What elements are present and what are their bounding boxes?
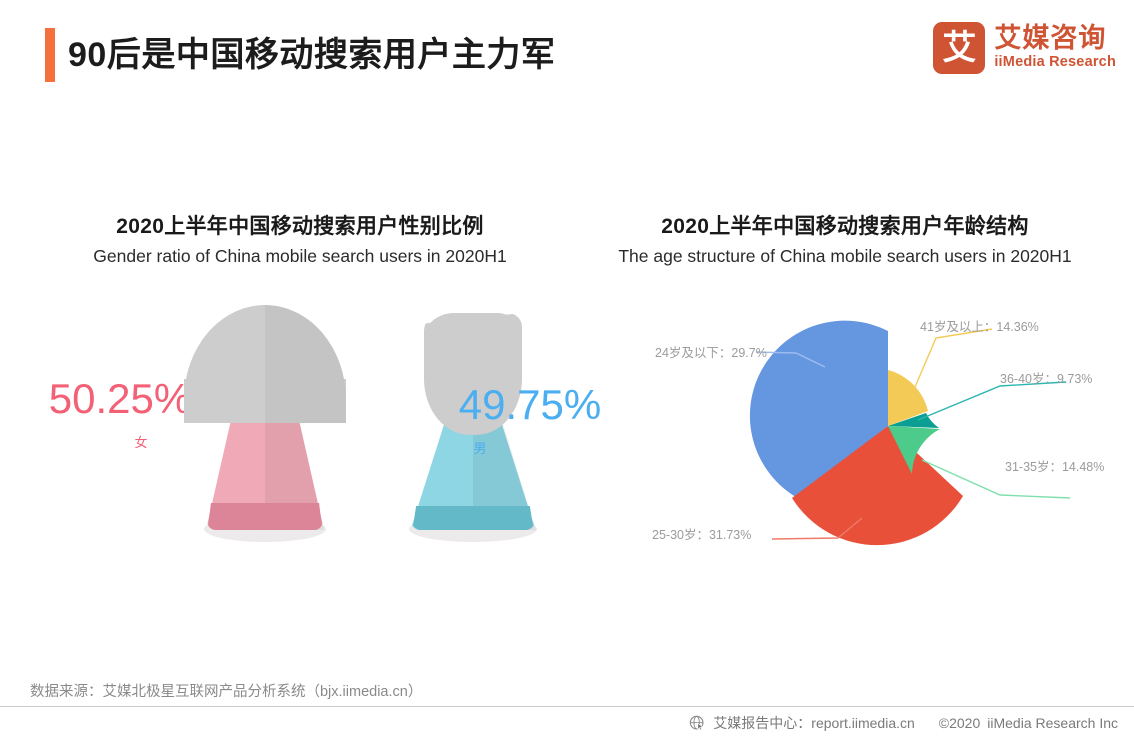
female-hair-shading: [265, 305, 346, 423]
male-percentage-label: 男: [430, 438, 530, 457]
female-hem: [208, 503, 323, 530]
logo-name-cn: 艾媒咨询: [994, 24, 1116, 53]
logo-mark-icon: 艾: [933, 22, 985, 74]
footer-content: 艾媒报告中心：report.iimedia.cn ©2020 iiMedia R…: [689, 713, 1118, 733]
female-figure-icon: [170, 305, 360, 540]
age-title-cn: 2020上半年中国移动搜索用户年龄结构: [610, 210, 1080, 240]
age-title-en: The age structure of China mobile search…: [610, 246, 1080, 267]
gender-chart: 50.25% 女 49.75% 男: [30, 300, 590, 550]
footer-copyright: ©2020: [939, 715, 980, 731]
page-title: 90后是中国移动搜索用户主力军: [68, 28, 555, 82]
logo-text: 艾媒咨询 iiMedia Research: [994, 24, 1116, 72]
footer-company: iiMedia Research Inc: [987, 715, 1118, 731]
infographic-page: 90后是中国移动搜索用户主力军 艾 艾媒咨询 iiMedia Research …: [0, 0, 1134, 737]
brand-logo: 艾 艾媒咨询 iiMedia Research: [933, 22, 1116, 74]
leader-line-36-40: [918, 382, 1066, 420]
gender-title-cn: 2020上半年中国移动搜索用户性别比例: [80, 210, 520, 240]
leader-line-above41: [912, 329, 992, 394]
gender-title-en: Gender ratio of China mobile search user…: [80, 246, 520, 267]
age-panel-title: 2020上半年中国移动搜索用户年龄结构 The age structure of…: [610, 210, 1080, 267]
pie-label-31-35: 31-35岁：14.48%: [1005, 456, 1104, 475]
age-rose-chart: 41岁及以上：14.36% 36-40岁：9.73% 31-35岁：14.48%…: [600, 290, 1134, 570]
pie-label-36-40: 36-40岁：9.73%: [1000, 368, 1092, 387]
male-hem: [413, 506, 534, 530]
gender-panel-title: 2020上半年中国移动搜索用户性别比例 Gender ratio of Chin…: [80, 210, 520, 267]
globe-icon: [689, 715, 706, 732]
title-accent-bar: [45, 28, 55, 82]
pie-label-under24: 24岁及以下：29.7%: [655, 342, 767, 361]
logo-name-en: iiMedia Research: [994, 54, 1116, 71]
footer-bar: 艾媒报告中心：report.iimedia.cn ©2020 iiMedia R…: [0, 706, 1134, 737]
pie-label-above41: 41岁及以上：14.36%: [920, 316, 1039, 335]
pie-label-25-30: 25-30岁：31.73%: [652, 524, 751, 543]
data-source-note: 数据来源：艾媒北极星互联网产品分析系统（bjx.iimedia.cn）: [30, 680, 422, 701]
footer-report-center[interactable]: 艾媒报告中心：report.iimedia.cn: [713, 713, 915, 733]
header: 90后是中国移动搜索用户主力军 艾 艾媒咨询 iiMedia Research: [0, 0, 1134, 110]
